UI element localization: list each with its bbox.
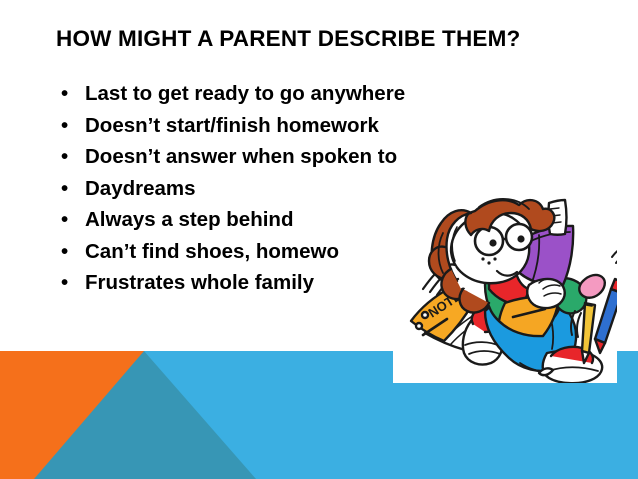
slide-canvas: HOW MIGHT A PARENT DESCRIBE THEM? • Last… bbox=[0, 0, 638, 479]
list-item: • Doesn’t answer when spoken to bbox=[57, 141, 457, 173]
bullet-marker-icon: • bbox=[61, 78, 68, 110]
list-item-label: Always a step behind bbox=[85, 208, 293, 231]
list-item-label: Doesn’t answer when spoken to bbox=[85, 145, 397, 168]
clipart-frame: NOTES bbox=[393, 196, 617, 383]
bullet-marker-icon: • bbox=[61, 267, 68, 299]
list-item-label: Doesn’t start/finish homework bbox=[85, 114, 379, 137]
list-item-label: Last to get ready to go anywhere bbox=[85, 82, 405, 105]
bullet-marker-icon: • bbox=[61, 110, 68, 142]
list-item-label: Frustrates whole family bbox=[85, 271, 314, 294]
student-dropping-books-icon: NOTES bbox=[393, 196, 617, 383]
bullet-marker-icon: • bbox=[61, 173, 68, 205]
bullet-marker-icon: • bbox=[61, 141, 68, 173]
list-item-label: Can’t find shoes, homewo bbox=[85, 240, 339, 263]
page-title: HOW MIGHT A PARENT DESCRIBE THEM? bbox=[56, 26, 596, 52]
list-item: • Doesn’t start/finish homework bbox=[57, 110, 457, 142]
list-item: • Last to get ready to go anywhere bbox=[57, 78, 457, 110]
bullet-marker-icon: • bbox=[61, 236, 68, 268]
band-teal-triangle bbox=[0, 351, 260, 479]
list-item-label: Daydreams bbox=[85, 177, 196, 200]
bullet-marker-icon: • bbox=[61, 204, 68, 236]
